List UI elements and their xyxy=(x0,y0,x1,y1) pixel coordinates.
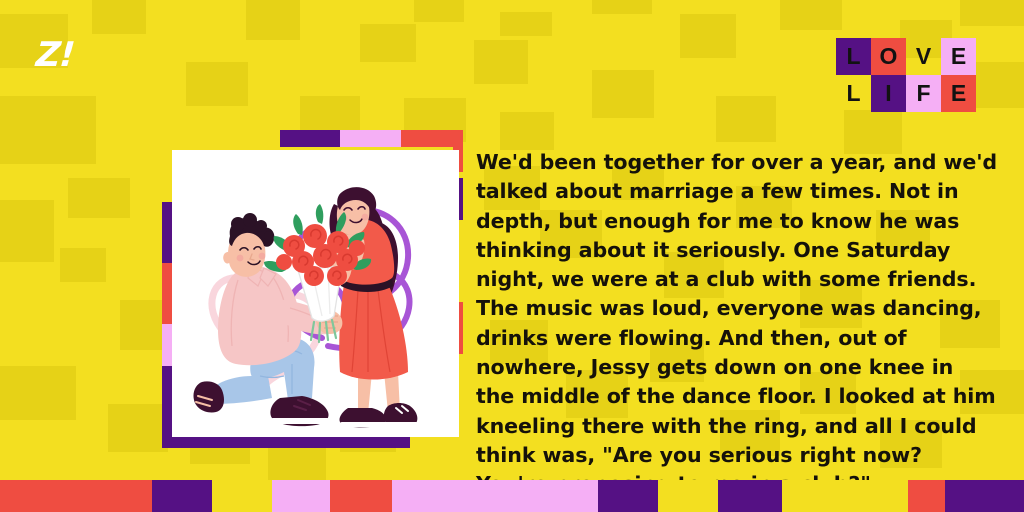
mosaic-tile xyxy=(0,96,96,164)
bottom-color-strip xyxy=(0,480,1024,512)
mosaic-tile xyxy=(500,12,552,36)
strip-block-0 xyxy=(0,480,152,512)
badge-letter-e-r1c3: E xyxy=(941,75,976,112)
badge-letter-f-r1c2: F xyxy=(906,75,941,112)
strip-block-11 xyxy=(945,480,1024,512)
frame-top-pink xyxy=(340,130,401,147)
mosaic-tile xyxy=(0,366,76,420)
photo-frame-group xyxy=(150,130,480,460)
marriage-proposal-illustration xyxy=(172,150,459,437)
badge-letter-o-r0c1: O xyxy=(871,38,906,75)
frame-bottom-purple xyxy=(162,436,410,448)
mosaic-tile xyxy=(592,0,652,14)
frame-top-red xyxy=(401,130,462,147)
badge-letter-e-r0c3: E xyxy=(941,38,976,75)
mosaic-tile xyxy=(474,40,528,84)
strip-block-1 xyxy=(152,480,212,512)
strip-block-6 xyxy=(598,480,658,512)
frame-top-purple xyxy=(280,130,340,147)
mosaic-tile xyxy=(92,0,146,34)
strip-block-7 xyxy=(658,480,718,512)
mosaic-tile xyxy=(186,62,248,106)
strip-block-10 xyxy=(908,480,945,512)
strip-block-9 xyxy=(782,480,908,512)
love-story-text: We'd been together for over a year, and … xyxy=(476,148,998,500)
strip-block-5 xyxy=(392,480,598,512)
mosaic-tile xyxy=(414,0,464,22)
mosaic-tile xyxy=(780,0,842,30)
strip-block-3 xyxy=(272,480,330,512)
badge-letter-i-r1c1: I xyxy=(871,75,906,112)
strip-block-2 xyxy=(212,480,272,512)
strip-block-4 xyxy=(330,480,392,512)
z-bang-logo[interactable]: Z! xyxy=(35,38,76,72)
love-life-badge: LOVELIFE xyxy=(836,38,976,112)
mosaic-tile xyxy=(246,0,300,40)
mosaic-tile xyxy=(500,112,554,150)
mosaic-tile xyxy=(716,96,776,142)
badge-letter-l-r1c0: L xyxy=(836,75,871,112)
mosaic-tile xyxy=(68,178,130,218)
mosaic-tile xyxy=(592,70,654,118)
mosaic-tile xyxy=(60,248,106,282)
badge-letter-l-r0c0: L xyxy=(836,38,871,75)
strip-block-8 xyxy=(718,480,782,512)
badge-letter-v-r0c2: V xyxy=(906,38,941,75)
mosaic-tile xyxy=(360,24,416,62)
social-media-story-card: Z! LOVELIFE xyxy=(0,0,1024,512)
mosaic-tile xyxy=(680,14,736,58)
mosaic-tile xyxy=(0,200,54,262)
mosaic-tile xyxy=(960,0,1024,26)
